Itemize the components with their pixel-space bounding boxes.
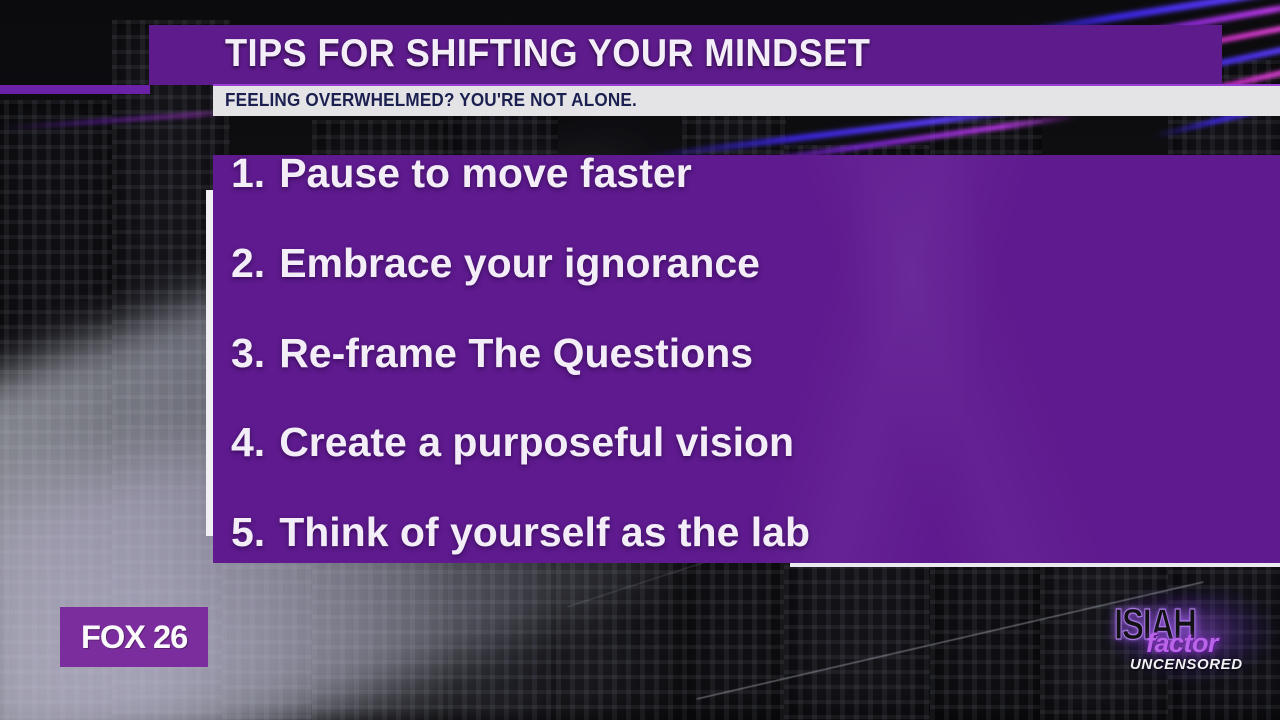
header-left-stub xyxy=(0,85,150,94)
list-item: 5.Think of yourself as the lab xyxy=(231,509,810,556)
list-item-number: 5. xyxy=(231,509,265,555)
list-item-number: 2. xyxy=(231,240,265,286)
list-item-number: 1. xyxy=(231,150,265,196)
list-item-label: Pause to move faster xyxy=(279,150,691,196)
subtitle: FEELING OVERWHELMED? YOU'RE NOT ALONE. xyxy=(225,90,659,111)
list-item-number: 3. xyxy=(231,330,265,376)
list-item: 3.Re-frame The Questions xyxy=(231,330,753,377)
list-item-label: Think of yourself as the lab xyxy=(279,509,810,555)
list-item: 4.Create a purposeful vision xyxy=(231,419,794,466)
header-bar: TIPS FOR SHIFTING YOUR MINDSET xyxy=(149,25,1222,85)
network-logo-text: FOX 26 xyxy=(82,619,186,656)
subtitle-bar: FEELING OVERWHELMED? YOU'RE NOT ALONE. xyxy=(213,86,1280,116)
list-item-label: Create a purposeful vision xyxy=(279,419,794,465)
show-logo-line2: factor xyxy=(1146,628,1218,659)
list-item: 1.Pause to move faster xyxy=(231,150,692,197)
show-logo: ISIAH factor UNCENSORED xyxy=(1110,598,1270,676)
network-logo: FOX 26 xyxy=(60,607,208,667)
list-item-label: Re-frame The Questions xyxy=(279,330,753,376)
subtitle-text: FEELING OVERWHELMED? YOU'RE NOT ALONE. xyxy=(225,90,637,111)
list-item: 2.Embrace your ignorance xyxy=(231,240,760,287)
list-item-number: 4. xyxy=(231,419,265,465)
panel-accent-bar xyxy=(206,190,213,536)
broadcast-graphic-stage: TIPS FOR SHIFTING YOUR MINDSET FEELING O… xyxy=(0,0,1280,720)
show-logo-line3: UNCENSORED xyxy=(1130,656,1243,673)
network-logo-label: FOX 26 xyxy=(81,619,187,656)
panel-underline xyxy=(790,563,1280,567)
list-item-label: Embrace your ignorance xyxy=(279,240,760,286)
page-title: TIPS FOR SHIFTING YOUR MINDSET xyxy=(225,32,919,76)
page-title-text: TIPS FOR SHIFTING YOUR MINDSET xyxy=(225,32,870,76)
